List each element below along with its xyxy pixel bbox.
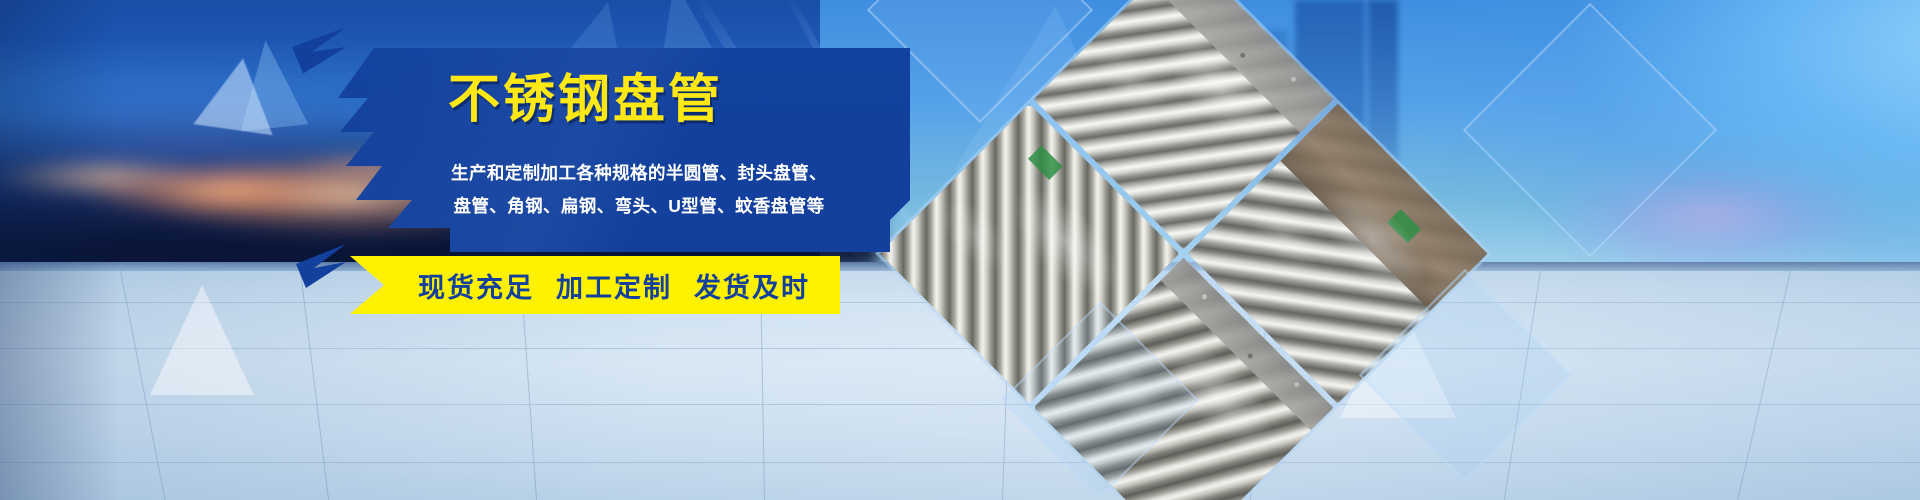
- ribbon-text-group: 现货充足 加工定制 发货及时: [402, 256, 826, 314]
- promo-banner: 不锈钢盘管 生产和定制加工各种规格的半圆管、封头盘管、 盘管、角钢、扁钢、弯头、…: [0, 0, 1920, 500]
- banner-subtitle-line-1: 生产和定制加工各种规格的半圆管、封头盘管、: [382, 165, 896, 183]
- ribbon-item-stock: 现货充足: [418, 266, 534, 305]
- plaza-ground: [0, 262, 1920, 500]
- banner-title: 不锈钢盘管: [448, 74, 888, 126]
- building-silhouette: [1295, 0, 1365, 250]
- content-panel: 不锈钢盘管 生产和定制加工各种规格的半圆管、封头盘管、 盘管、角钢、扁钢、弯头、…: [330, 48, 910, 260]
- building-silhouette: [1250, 30, 1288, 230]
- building-silhouette: [1368, 0, 1398, 215]
- plaza-shading: [0, 262, 1920, 500]
- ribbon-item-custom: 加工定制: [556, 266, 672, 305]
- ribbon-item-shipping: 发货及时: [694, 266, 810, 305]
- feature-ribbon: 现货充足 加工定制 发货及时: [350, 256, 840, 314]
- banner-subtitle-line-2: 盘管、角钢、扁钢、弯头、U型管、蚊香盘管等: [382, 198, 896, 216]
- decor-triangle-icon: [150, 285, 254, 395]
- decor-triangle-icon: [193, 53, 282, 135]
